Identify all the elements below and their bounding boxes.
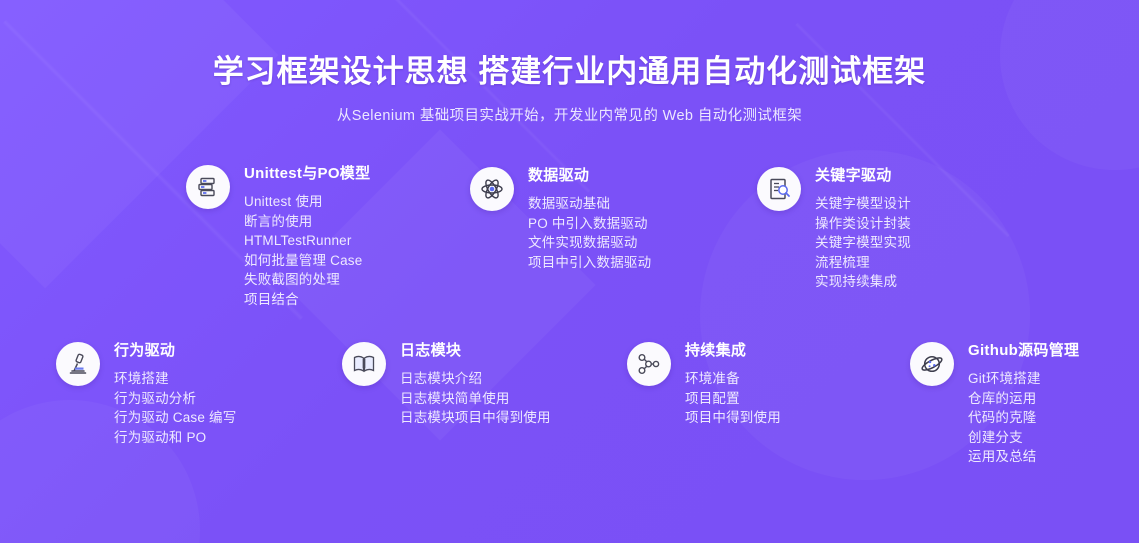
card-item-list: 关键字模型设计 操作类设计封装 关键字模型实现 流程梳理 实现持续集成 — [815, 194, 911, 292]
feature-card-unittest[interactable]: Unittest与PO模型 Unittest 使用 断言的使用 HTMLTest… — [186, 163, 370, 309]
list-item: 代码的克隆 — [968, 408, 1079, 428]
planet-icon — [910, 342, 954, 386]
list-item: 行为驱动 Case 编写 — [114, 408, 236, 428]
microscope-icon — [56, 342, 100, 386]
open-book-icon — [342, 342, 386, 386]
list-item: 仓库的运用 — [968, 389, 1079, 409]
card-item-list: 日志模块介绍 日志模块简单使用 日志模块项目中得到使用 — [400, 369, 551, 428]
card-title: Unittest与PO模型 — [244, 165, 370, 183]
list-item: 行为驱动分析 — [114, 389, 236, 409]
list-item: Unittest 使用 — [244, 192, 370, 212]
list-item: 创建分支 — [968, 428, 1079, 448]
document-search-icon — [757, 167, 801, 211]
list-item: Git环境搭建 — [968, 369, 1079, 389]
list-item: 运用及总结 — [968, 447, 1079, 467]
list-item: 项目配置 — [685, 389, 781, 409]
feature-card-behavior-driven[interactable]: 行为驱动 环境搭建 行为驱动分析 行为驱动 Case 编写 行为驱动和 PO — [56, 340, 236, 447]
feature-card-log-module[interactable]: 日志模块 日志模块介绍 日志模块简单使用 日志模块项目中得到使用 — [342, 340, 551, 428]
list-item: 环境准备 — [685, 369, 781, 389]
network-nodes-icon — [627, 342, 671, 386]
list-item: 如何批量管理 Case — [244, 251, 370, 271]
list-item: 实现持续集成 — [815, 272, 911, 292]
card-body: 关键字驱动 关键字模型设计 操作类设计封装 关键字模型实现 流程梳理 实现持续集… — [815, 165, 911, 292]
card-title: 持续集成 — [685, 342, 781, 360]
list-item: 行为驱动和 PO — [114, 428, 236, 448]
list-item: 操作类设计封装 — [815, 214, 911, 234]
list-item: 失败截图的处理 — [244, 270, 370, 290]
server-stack-icon — [186, 165, 230, 209]
list-item: 关键字模型设计 — [815, 194, 911, 214]
page-subtitle: 从Selenium 基础项目实战开始，开发业内常见的 Web 自动化测试框架 — [0, 106, 1139, 126]
list-item: 文件实现数据驱动 — [528, 233, 651, 253]
feature-card-data-driven[interactable]: 数据驱动 数据驱动基础 PO 中引入数据驱动 文件实现数据驱动 项目中引入数据驱… — [470, 165, 651, 272]
list-item: 关键字模型实现 — [815, 233, 911, 253]
list-item: 项目中得到使用 — [685, 408, 781, 428]
feature-card-github[interactable]: Github源码管理 Git环境搭建 仓库的运用 代码的克隆 创建分支 运用及总… — [910, 340, 1079, 467]
list-item: HTMLTestRunner — [244, 231, 370, 251]
card-body: Unittest与PO模型 Unittest 使用 断言的使用 HTMLTest… — [244, 163, 370, 309]
list-item: 日志模块介绍 — [400, 369, 551, 389]
list-item: 项目中引入数据驱动 — [528, 253, 651, 273]
list-item: 流程梳理 — [815, 253, 911, 273]
atom-icon — [470, 167, 514, 211]
card-item-list: 数据驱动基础 PO 中引入数据驱动 文件实现数据驱动 项目中引入数据驱动 — [528, 194, 651, 272]
card-body: 行为驱动 环境搭建 行为驱动分析 行为驱动 Case 编写 行为驱动和 PO — [114, 340, 236, 447]
card-item-list: Git环境搭建 仓库的运用 代码的克隆 创建分支 运用及总结 — [968, 369, 1079, 467]
list-item: 项目结合 — [244, 290, 370, 310]
card-item-list: 环境搭建 行为驱动分析 行为驱动 Case 编写 行为驱动和 PO — [114, 369, 236, 447]
feature-card-continuous-integration[interactable]: 持续集成 环境准备 项目配置 项目中得到使用 — [627, 340, 781, 428]
list-item: 环境搭建 — [114, 369, 236, 389]
card-body: 数据驱动 数据驱动基础 PO 中引入数据驱动 文件实现数据驱动 项目中引入数据驱… — [528, 165, 651, 272]
page-title: 学习框架设计思想 搭建行业内通用自动化测试框架 — [0, 52, 1139, 92]
card-title: Github源码管理 — [968, 342, 1079, 360]
card-item-list: Unittest 使用 断言的使用 HTMLTestRunner 如何批量管理 … — [244, 192, 370, 309]
page-header: 学习框架设计思想 搭建行业内通用自动化测试框架 从Selenium 基础项目实战… — [0, 52, 1139, 126]
card-body: 持续集成 环境准备 项目配置 项目中得到使用 — [685, 340, 781, 428]
card-body: Github源码管理 Git环境搭建 仓库的运用 代码的克隆 创建分支 运用及总… — [968, 340, 1079, 467]
card-item-list: 环境准备 项目配置 项目中得到使用 — [685, 369, 781, 428]
list-item: PO 中引入数据驱动 — [528, 214, 651, 234]
list-item: 日志模块项目中得到使用 — [400, 408, 551, 428]
list-item: 断言的使用 — [244, 212, 370, 232]
card-title: 日志模块 — [400, 342, 551, 360]
feature-card-keyword-driven[interactable]: 关键字驱动 关键字模型设计 操作类设计封装 关键字模型实现 流程梳理 实现持续集… — [757, 165, 911, 292]
list-item: 日志模块简单使用 — [400, 389, 551, 409]
card-title: 关键字驱动 — [815, 167, 911, 185]
card-title: 数据驱动 — [528, 167, 651, 185]
card-body: 日志模块 日志模块介绍 日志模块简单使用 日志模块项目中得到使用 — [400, 340, 551, 428]
list-item: 数据驱动基础 — [528, 194, 651, 214]
page-root: 学习框架设计思想 搭建行业内通用自动化测试框架 从Selenium 基础项目实战… — [0, 0, 1139, 543]
card-title: 行为驱动 — [114, 342, 236, 360]
